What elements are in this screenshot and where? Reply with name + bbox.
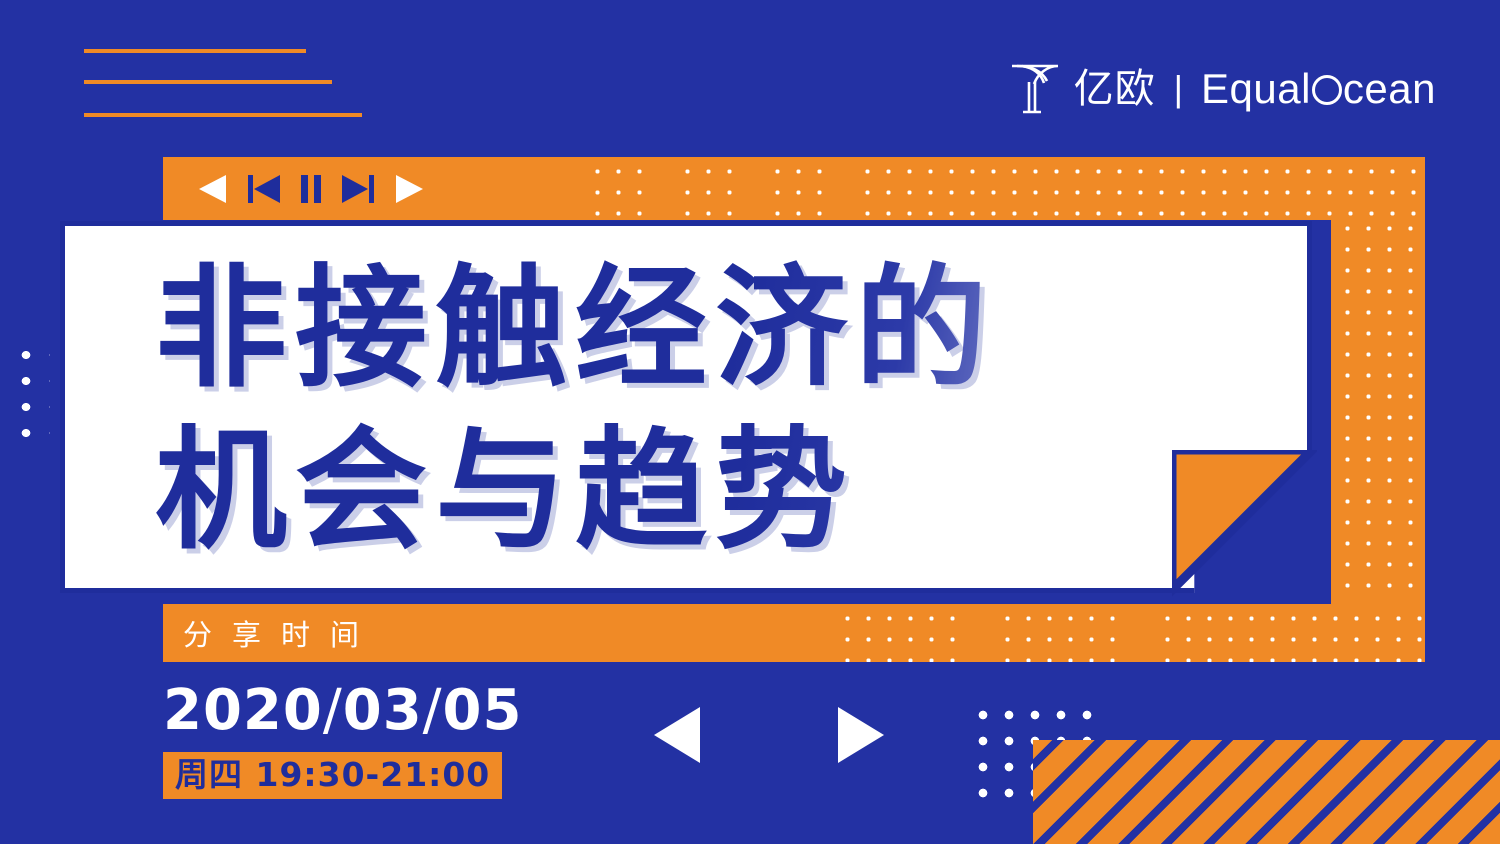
orange-rule-3 (84, 113, 362, 117)
callout-corner-notch (1172, 450, 1317, 598)
next-track-icon[interactable] (339, 172, 375, 206)
right-orange-dotted-panel (1331, 157, 1425, 662)
share-bar-dot-cluster-2 (993, 604, 1121, 662)
brand-separator: | (1166, 71, 1191, 107)
top-bar-dot-cluster-1 (583, 157, 649, 220)
top-bar-dot-cluster-4 (853, 157, 1425, 220)
orange-rule-2 (84, 80, 332, 84)
event-time-badge: 周四 19:30-21:00 (163, 752, 502, 799)
date-slash-1: / (323, 678, 343, 743)
brand-name-en-part2: cean (1343, 68, 1436, 110)
previous-track-icon[interactable] (247, 172, 283, 206)
event-year: 2020 (163, 678, 323, 743)
top-bar-dot-cluster-3 (763, 157, 829, 220)
top-bar-dot-cluster-2 (673, 157, 739, 220)
previous-slide-arrow-icon[interactable] (650, 705, 704, 770)
date-slash-2: / (423, 678, 443, 743)
orange-rule-1 (84, 49, 306, 53)
brand-logo: 亿欧 | Equal cean (1008, 62, 1436, 116)
event-day: 05 (443, 678, 523, 743)
next-slide-arrow-icon[interactable] (834, 705, 888, 770)
rewind-triangle-left-icon[interactable] (196, 172, 230, 206)
yiou-y-logo-icon (1008, 62, 1064, 116)
title-line-1: 非接触经济的 (155, 248, 1155, 410)
slide-nav-arrows (650, 705, 888, 770)
brand-name-cn: 亿欧 (1074, 69, 1156, 109)
media-controls-group (196, 172, 426, 206)
share-time-bar: 分享时间 (163, 604, 1425, 662)
share-bar-dot-cluster-3 (1153, 604, 1425, 662)
page-title: 非接触经济的 机会与趋势 (155, 248, 1155, 572)
share-bar-dot-cluster-1 (833, 604, 961, 662)
diagonal-stripes-decoration (1033, 740, 1500, 844)
ocean-o-ring-icon (1312, 75, 1342, 105)
left-dot-grid-decoration (10, 340, 50, 455)
share-time-label: 分享时间 (183, 612, 379, 654)
event-date: 2020/03/05 (163, 683, 522, 739)
play-icon[interactable] (392, 172, 426, 206)
title-line-2: 机会与趋势 (155, 410, 1155, 572)
pause-icon[interactable] (300, 172, 322, 206)
brand-name-en: Equal cean (1201, 68, 1436, 110)
poster-canvas: 亿欧 | Equal cean (0, 0, 1500, 844)
event-month: 03 (343, 678, 423, 743)
brand-name-en-part1: Equal (1201, 68, 1311, 110)
